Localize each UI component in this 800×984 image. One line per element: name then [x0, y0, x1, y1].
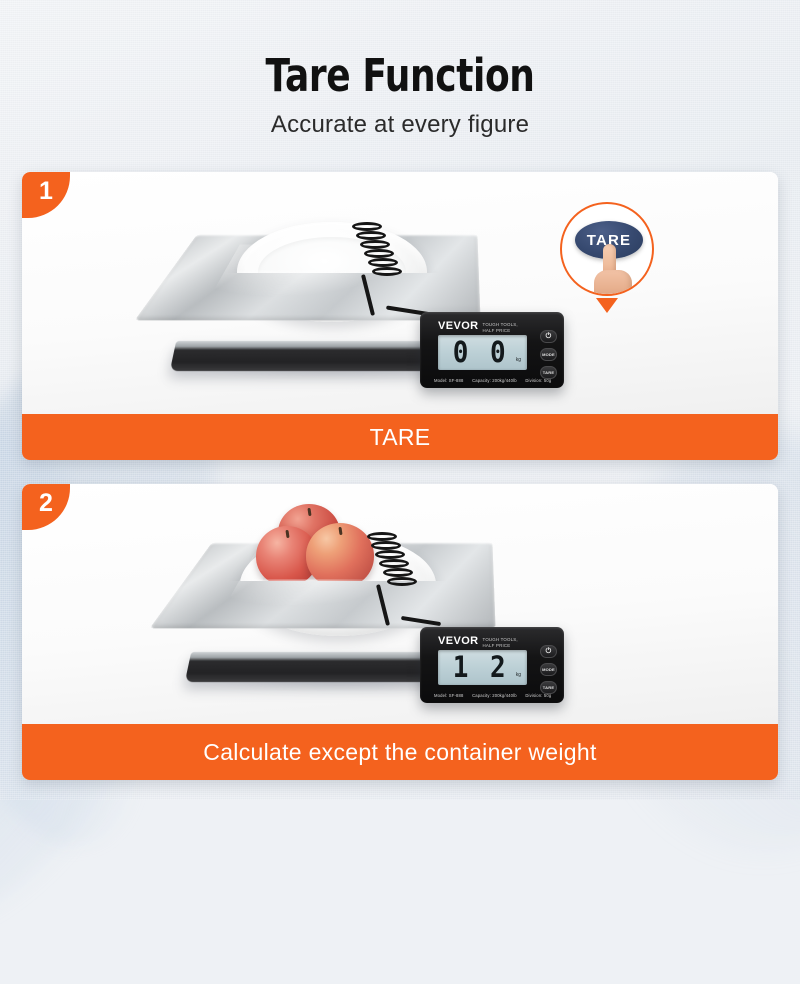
brand-tagline-1: TOUGH TOOLS, HALF PRICE — [483, 321, 518, 333]
step-badge-2: 2 — [22, 484, 70, 530]
tare-button-2[interactable]: TARE — [540, 681, 557, 694]
step-badge-number: 2 — [39, 489, 53, 518]
lcd-weight-value-1: 0 0 — [453, 338, 509, 367]
device-button-column-2: ⏻ MODE TARE — [540, 645, 557, 694]
step-badge-1: 1 — [22, 172, 70, 218]
page-subtitle: Accurate at every figure — [0, 111, 800, 139]
panel-1-caption: TARE — [22, 414, 778, 460]
brand-name-1: VEVOR — [438, 321, 479, 332]
panel-2-caption: Calculate except the container weight — [22, 724, 778, 780]
page-title: Tare Function — [80, 52, 720, 99]
product-photo-2: 2 — [22, 484, 778, 724]
tare-callout: TARE — [560, 202, 654, 296]
apple-right — [306, 523, 374, 588]
product-photo-1: 1 VEVOR TOUG — [22, 172, 778, 414]
spec-capacity-value-2: 200kg/440lb — [492, 693, 516, 698]
power-icon-button-2[interactable]: ⏻ — [540, 645, 557, 658]
hand-knuckle — [594, 270, 632, 296]
lcd-weight-value-2: 1 2 — [453, 653, 509, 682]
lcd-screen-2: 1 2 kg — [438, 650, 527, 685]
brand-tagline-line1: TOUGH TOOLS, — [483, 637, 518, 643]
panel-1-caption-text: TARE — [370, 424, 431, 451]
lcd-screen-1: 0 0 kg — [438, 335, 527, 370]
spec-model-label-1: Model: — [434, 378, 447, 383]
brand-tagline-line2: HALF PRICE — [483, 643, 518, 649]
pointing-hand-icon — [592, 244, 636, 296]
brand-name-2: VEVOR — [438, 636, 479, 647]
down-arrow-icon — [596, 298, 618, 313]
lcd-unit-1: kg — [516, 357, 521, 370]
panel-2-caption-text: Calculate except the container weight — [203, 739, 596, 766]
power-icon-button-1[interactable]: ⏻ — [540, 330, 557, 343]
brand-lockup-2: VEVOR TOUGH TOOLS, HALF PRICE — [438, 636, 518, 648]
lcd-unit-2: kg — [516, 672, 521, 685]
scale-display-head-2: VEVOR TOUGH TOOLS, HALF PRICE 1 2 kg Mod… — [420, 627, 564, 703]
step-panel-1: 1 VEVOR TOUG — [22, 172, 778, 460]
device-spec-label-2: Model: SF-888 Capacity: 200kg/440lb Divi… — [434, 693, 551, 698]
spec-capacity-label-1: Capacity: — [472, 378, 491, 383]
device-button-column-1: ⏻ MODE TARE — [540, 330, 557, 379]
mode-button-1[interactable]: MODE — [540, 348, 557, 361]
tare-button-1[interactable]: TARE — [540, 366, 557, 379]
spec-model-value-1: SF-888 — [449, 378, 464, 383]
scale-display-head-1: VEVOR TOUGH TOOLS, HALF PRICE 0 0 kg Mod… — [420, 312, 564, 388]
brand-lockup-1: VEVOR TOUGH TOOLS, HALF PRICE — [438, 321, 518, 333]
brand-tagline-line1: TOUGH TOOLS, — [483, 322, 518, 328]
step-badge-number: 1 — [39, 177, 53, 206]
header: Tare Function Accurate at every figure — [0, 52, 800, 139]
spec-model-label-2: Model: — [434, 693, 447, 698]
coiled-cable-1 — [352, 214, 472, 324]
spec-capacity-label-2: Capacity: — [472, 693, 491, 698]
step-panel-2: 2 — [22, 484, 778, 780]
brand-tagline-line2: HALF PRICE — [483, 328, 518, 334]
brand-tagline-2: TOUGH TOOLS, HALF PRICE — [483, 636, 518, 648]
mode-button-2[interactable]: MODE — [540, 663, 557, 676]
spec-capacity-value-1: 200kg/440lb — [492, 378, 516, 383]
device-spec-label-1: Model: SF-888 Capacity: 200kg/440lb Divi… — [434, 378, 551, 383]
coiled-cable-2 — [367, 524, 487, 636]
spec-model-value-2: SF-888 — [449, 693, 464, 698]
